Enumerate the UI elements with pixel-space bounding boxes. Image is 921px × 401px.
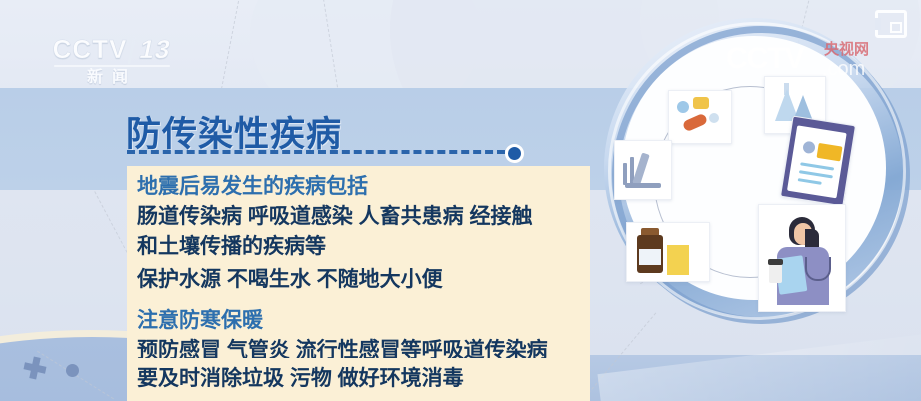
bottle-label	[639, 249, 661, 265]
broadcast-graphic-stage: CCTV13 新闻	[0, 0, 921, 401]
pill-icon	[709, 113, 719, 123]
pill-icon	[693, 97, 709, 109]
content-line: 保护水源 不喝生水 不随地大小便	[137, 265, 580, 295]
title-dashed-rule	[127, 150, 505, 154]
microscope-card	[614, 140, 672, 200]
water-safety-block: 保护水源 不喝生水 不随地大小便	[127, 259, 590, 302]
pill-icon	[677, 101, 689, 113]
microscope-bar-icon	[623, 163, 627, 185]
medical-illustration-circle	[598, 8, 918, 338]
avatar-icon	[802, 141, 816, 155]
stethoscope-icon	[805, 257, 831, 281]
content-line: 和土壤传播的疾病等	[137, 232, 580, 262]
decorative-dashed-curve	[220, 0, 241, 94]
microscope-icon	[632, 153, 649, 186]
plus-icon	[22, 355, 48, 381]
logo-main-text: CCTV	[53, 34, 128, 64]
content-line: 肠道传染病 呼吸道感染 人畜共患病 经接触	[137, 202, 580, 232]
clipboard-sheet	[787, 125, 847, 198]
text-line	[798, 178, 822, 185]
title-end-dot	[505, 144, 524, 163]
content-line: 要及时消除垃圾 污物 做好环境消毒	[137, 364, 580, 394]
logo-divider	[54, 65, 170, 67]
nurse-card	[758, 204, 846, 312]
corner-logo-icon	[875, 10, 907, 38]
logo-number: 13	[128, 34, 174, 64]
cctv13-news-logo: CCTV13 新闻	[48, 34, 176, 92]
pills-card	[668, 90, 732, 144]
cup-icon	[769, 263, 782, 283]
microscope-base-icon	[625, 183, 661, 188]
text-line	[800, 162, 834, 170]
medicine-box-icon	[667, 245, 689, 275]
disease-types-block: 地震后易发生的疾病包括 肠道传染病 呼吸道感染 人畜共患病 经接触 和土壤传播的…	[127, 166, 590, 269]
cup-lid-icon	[768, 259, 783, 265]
capsule-icon	[682, 113, 708, 133]
sanitation-block: 要及时消除垃圾 污物 做好环境消毒	[127, 358, 590, 401]
badge-icon	[816, 143, 842, 162]
text-line	[799, 170, 833, 178]
logo-sub-text: 新闻	[48, 69, 176, 87]
content-line: 注意防寒保暖	[137, 306, 580, 336]
dot-icon	[66, 364, 79, 377]
clipboard-card	[780, 115, 856, 206]
medicine-bottle-card	[626, 222, 710, 282]
content-line: 地震后易发生的疾病包括	[137, 172, 580, 202]
